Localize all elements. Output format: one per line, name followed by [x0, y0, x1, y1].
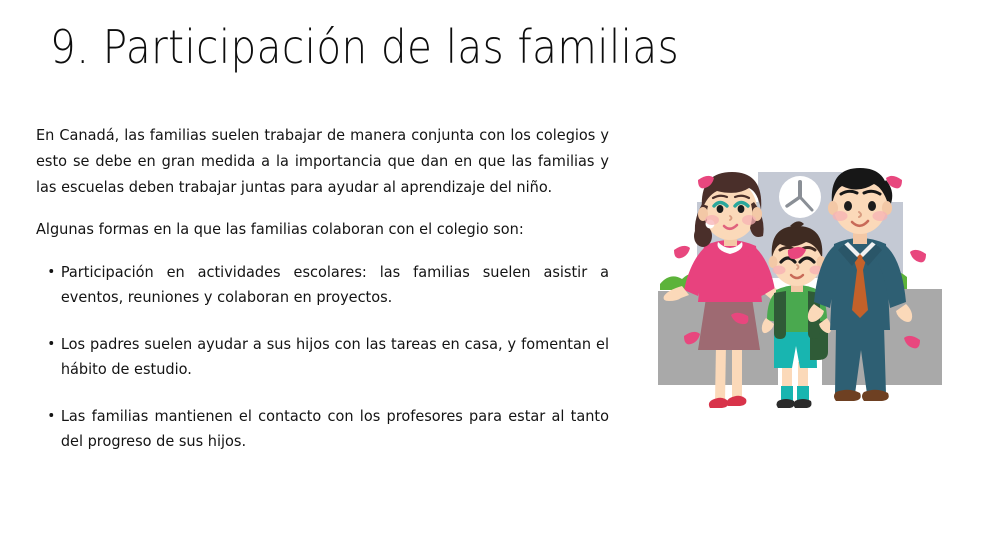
list-item: Participación en actividades escolares: … [36, 260, 609, 310]
intro-paragraph: En Canadá, las familias suelen trabajar … [36, 122, 609, 200]
slide: 9. Participación de las familias En Cana… [0, 0, 1001, 558]
list-item-text: Las familias mantienen el contacto con l… [61, 407, 609, 450]
list-item: Los padres suelen ayudar a sus hijos con… [36, 332, 609, 382]
bullet-dot-icon [49, 413, 53, 417]
list-item: Las familias mantienen el contacto con l… [36, 404, 609, 454]
bullet-list: Participación en actividades escolares: … [36, 260, 636, 454]
list-item-text: Los padres suelen ayudar a sus hijos con… [61, 335, 609, 378]
bullet-dot-icon [49, 341, 53, 345]
bullet-dot-icon [49, 269, 53, 273]
clock-icon [779, 176, 821, 218]
page-title: 9. Participación de las familias [50, 20, 679, 74]
lead-in-paragraph: Algunas formas en la que las familias co… [36, 216, 609, 242]
list-item-text: Participación en actividades escolares: … [61, 263, 609, 306]
body-content: En Canadá, las familias suelen trabajar … [36, 122, 636, 454]
family-at-school-entrance-illustration [640, 158, 960, 423]
